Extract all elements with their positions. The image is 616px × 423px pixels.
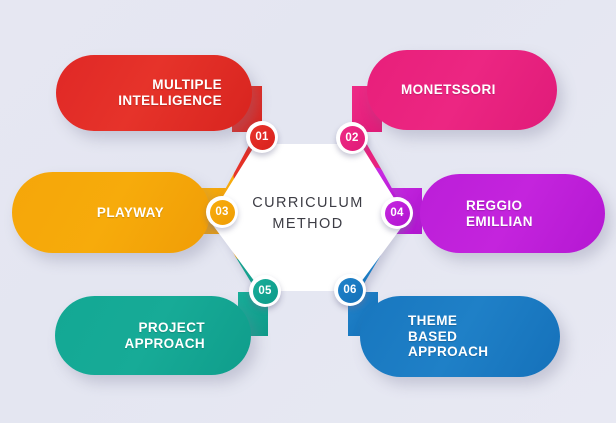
- infographic-canvas: MULTIPLE INTELLIGENCE MONETSSORI PLAYWAY…: [0, 0, 616, 423]
- step-badge-05-number: 05: [253, 279, 278, 304]
- pill-label-line3: APPROACH: [408, 344, 488, 360]
- step-badge-03-number: 03: [210, 200, 235, 225]
- step-badge-05[interactable]: 05: [249, 275, 281, 307]
- step-badge-06[interactable]: 06: [334, 274, 366, 306]
- category-pill-playway[interactable]: PLAYWAY: [12, 172, 210, 253]
- pill-label-line2: INTELLIGENCE: [118, 93, 222, 109]
- pill-label-line2: BASED: [408, 329, 488, 345]
- step-badge-02-number: 02: [340, 126, 365, 151]
- pill-label-line2: APPROACH: [125, 336, 205, 352]
- step-badge-06-number: 06: [338, 278, 363, 303]
- pill-label-line1: MONETSSORI: [401, 82, 496, 98]
- step-badge-01-number: 01: [250, 125, 275, 150]
- step-badge-04-number: 04: [385, 201, 410, 226]
- step-badge-02[interactable]: 02: [336, 122, 368, 154]
- pill-label-line1: MULTIPLE: [118, 77, 222, 93]
- pill-label-line1: PROJECT: [125, 320, 205, 336]
- step-badge-03[interactable]: 03: [206, 196, 238, 228]
- pill-label-line2: EMILLIAN: [466, 214, 533, 230]
- step-badge-01[interactable]: 01: [246, 121, 278, 153]
- pill-label-line1: THEME: [408, 313, 488, 329]
- category-pill-reggio-emillian[interactable]: REGGIO EMILLIAN: [420, 174, 605, 253]
- step-badge-04[interactable]: 04: [381, 197, 413, 229]
- pill-label-line1: REGGIO: [466, 198, 533, 214]
- pill-label-line1: PLAYWAY: [97, 205, 164, 221]
